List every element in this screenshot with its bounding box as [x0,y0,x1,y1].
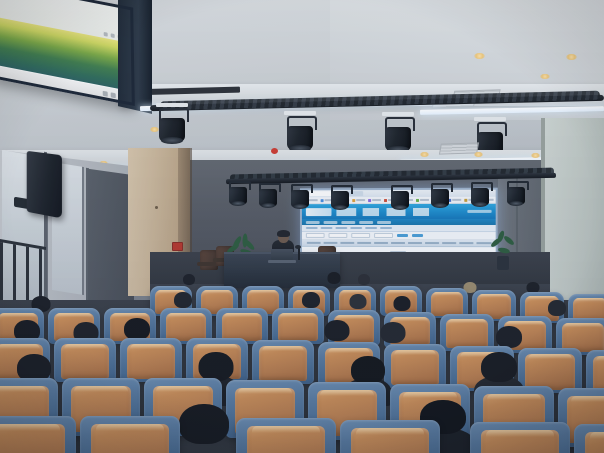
light-body [507,187,525,204]
filter-input[interactable] [351,233,370,238]
nav-item[interactable] [324,221,338,224]
nav-item[interactable] [341,221,355,224]
bookmark-favicon-icon [321,199,324,202]
auditorium-seat [470,422,570,453]
light-lens-icon [261,203,275,208]
laptop-base [268,260,296,263]
filter-input[interactable] [374,233,393,238]
table-column-header[interactable] [374,242,388,245]
light-lens-icon [509,201,523,206]
auditorium-seat [574,424,604,453]
table-column-header[interactable] [340,242,354,245]
hvac-vent [439,142,479,154]
column-fixing-dot [155,206,158,209]
bookmark-item[interactable] [416,198,429,201]
light-lens-icon [161,137,183,144]
bookmark-favicon-icon [384,199,387,202]
downlight-icon [474,152,483,157]
desktop-icon [104,32,108,37]
subnav-item[interactable] [306,227,318,229]
downlight-icon [474,53,485,59]
auditorium-seat [0,416,76,453]
table-column-header[interactable] [306,242,320,245]
desktop-icon [111,33,115,38]
light-body [229,187,247,204]
table-column-header[interactable] [477,242,491,245]
auditorium-seat [120,338,182,382]
subnav-item[interactable] [321,227,333,229]
light-body [291,190,309,207]
subnav-item[interactable] [365,227,377,229]
bookmark-favicon-icon [368,199,371,202]
table-column-header[interactable] [460,242,474,245]
light-lens-icon [231,201,245,206]
app-logo [306,208,332,216]
app-filter-toolbar[interactable] [302,232,496,240]
light-body [471,188,489,205]
bookmark-item[interactable] [368,199,381,202]
table-column-header[interactable] [357,242,371,245]
filter-input[interactable] [329,233,348,238]
display-mount-bracket [118,0,152,114]
microphone-stand [298,248,300,260]
table-column-header[interactable] [391,242,405,245]
light-mounting-bar [474,117,506,121]
downlight-icon [531,153,540,158]
plant-pot [497,256,509,270]
subnav-item[interactable] [380,227,392,229]
light-mounting-bar [156,103,188,107]
auditorium-seat [236,418,336,453]
light-body [331,191,349,208]
light-body [259,189,277,206]
auditorium-seat [80,416,180,453]
light-lens-icon [473,202,487,207]
light-lens-icon [293,204,307,209]
auditorium-seat [252,340,314,384]
light-mounting-bar [284,111,316,115]
table-column-header[interactable] [323,242,337,245]
microphone-icon [295,245,301,249]
bookmark-favicon-icon [352,199,355,202]
subnav-item[interactable] [335,227,347,229]
auditorium-seat [384,344,446,388]
taskbar-icon [111,92,116,98]
filter-input[interactable] [306,233,325,238]
bookmark-favicon-icon [416,198,419,201]
nav-item[interactable] [377,221,391,224]
light-body [159,118,185,142]
nav-item[interactable] [359,221,373,224]
presenter-hair [277,230,290,237]
reset-button[interactable] [412,234,423,238]
nav-item[interactable] [306,221,320,224]
light-lens-icon [433,203,447,208]
auditorium-seat [272,308,324,344]
light-lens-icon [333,205,347,210]
auditorium-seat [54,338,116,382]
downlight-icon [150,127,159,132]
conference-hall-photo [0,0,604,453]
downlight-icon [420,152,429,157]
auditorium-seat [340,420,440,453]
light-mounting-bar [382,112,414,116]
light-body [431,189,449,206]
light-lens-icon [393,205,407,210]
table-column-header[interactable] [425,242,439,245]
light-body [287,126,313,150]
subnav-item[interactable] [350,227,362,229]
downlight-icon [540,74,550,79]
app-user-info [467,210,491,213]
smoke-detector-icon [271,148,278,154]
fire-alarm-sign-icon [172,242,183,251]
bookmark-favicon-icon [464,198,467,201]
table-column-header[interactable] [408,242,422,245]
bookmark-item[interactable] [352,199,365,202]
downlight-icon [566,54,577,60]
table-column-header[interactable] [442,242,456,245]
light-body [385,127,411,151]
light-body [391,191,409,208]
taskbar-icon [103,91,108,97]
right-wall-column [545,118,604,308]
search-button[interactable] [397,234,408,238]
wall-speaker [27,151,62,219]
bookmark-item[interactable] [448,198,461,201]
audience-person [176,404,232,453]
